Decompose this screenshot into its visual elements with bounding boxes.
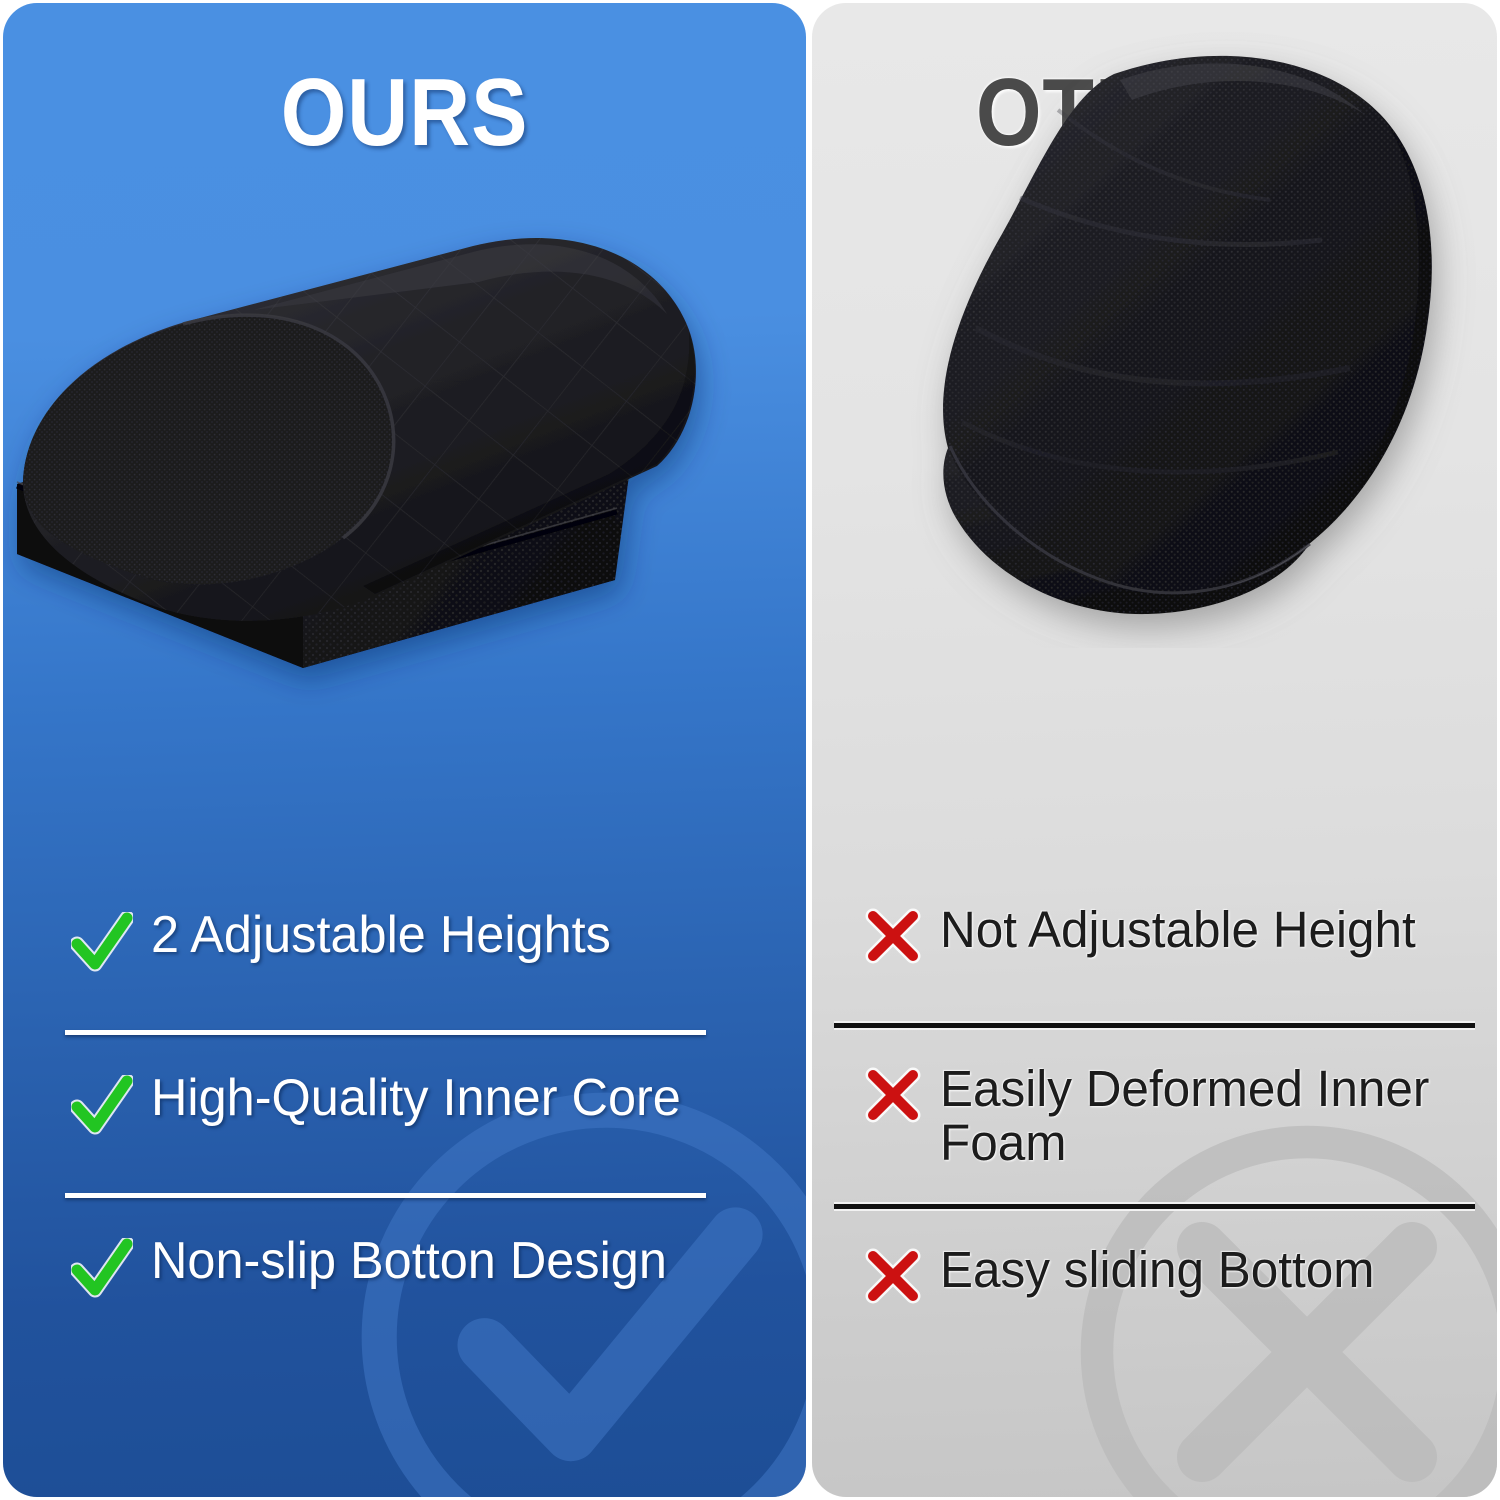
check-icon (71, 1075, 133, 1135)
feature-row: 2 Adjustable Heights (3, 908, 806, 994)
feature-label: High-Quality Inner Core (151, 1071, 681, 1126)
ours-product-image (3, 198, 773, 848)
check-icon (71, 912, 133, 972)
feature-label: Easily Deformed Inner Foam (940, 1062, 1451, 1170)
feature-divider (834, 1023, 1475, 1028)
others-feature-list: Not Adjustable Height Easily Deformed In… (812, 903, 1497, 1329)
feature-label: Easy sliding Bottom (940, 1243, 1374, 1297)
feature-row: Easily Deformed Inner Foam (812, 1062, 1497, 1170)
feature-row: High-Quality Inner Core (3, 1071, 806, 1157)
feature-divider (834, 1204, 1475, 1209)
others-product-image (852, 28, 1492, 648)
feature-label: 2 Adjustable Heights (151, 908, 611, 963)
ours-feature-list: 2 Adjustable Heights High-Quality Inner … (3, 908, 806, 1320)
feature-divider (65, 1193, 706, 1198)
feature-row: Non-slip Botton Design (3, 1234, 806, 1320)
check-icon (71, 1238, 133, 1298)
feature-label: Non-slip Botton Design (151, 1234, 667, 1289)
others-panel: OTHERS (812, 3, 1497, 1497)
feature-row: Not Adjustable Height (812, 903, 1497, 989)
feature-divider (65, 1030, 706, 1035)
ours-heading: OURS (51, 65, 758, 161)
ours-panel: OURS (3, 3, 806, 1497)
feature-label: Not Adjustable Height (940, 903, 1416, 957)
comparison-infographic: OURS (0, 0, 1500, 1500)
cross-icon (864, 1066, 922, 1124)
feature-row: Easy sliding Bottom (812, 1243, 1497, 1329)
cross-icon (864, 1247, 922, 1305)
cross-icon (864, 907, 922, 965)
